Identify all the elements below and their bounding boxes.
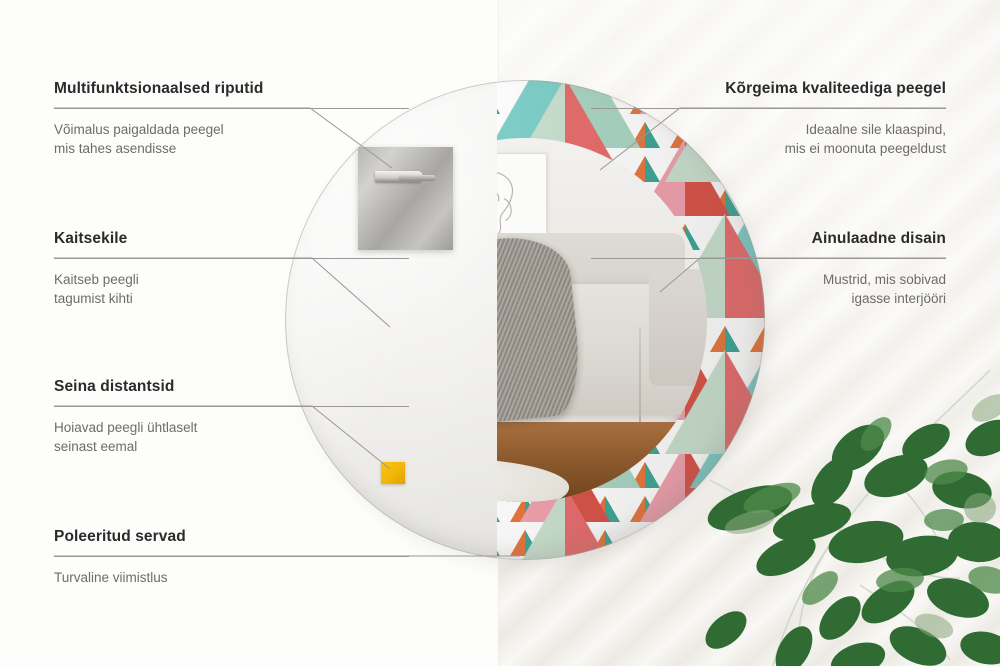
callout-multifunctional-hangers: Multifunktsionaalsed riputid Võimalus pa… [54, 80, 409, 158]
callout-title: Kaitsekile [54, 230, 409, 249]
callout-rule [591, 258, 946, 259]
callout-polished-edges: Poleeritud servad Turvaline viimistlus [54, 528, 409, 587]
callout-highest-quality-mirror: Kõrgeima kvaliteediga peegel Ideaalne si… [591, 80, 946, 158]
callout-rule [591, 108, 946, 109]
hanger-slot-shadow [398, 175, 436, 181]
infographic-canvas: Multifunktsionaalsed riputid Võimalus pa… [0, 0, 1000, 666]
callout-title: Seina distantsid [54, 378, 409, 397]
callout-description: Turvaline viimistlus [54, 568, 409, 587]
callout-title: Multifunktsionaalsed riputid [54, 80, 409, 99]
plant-decoration [690, 330, 1000, 666]
callout-rule [54, 258, 409, 259]
callout-rule [54, 406, 409, 407]
callout-description: Hoiavad peegli ühtlaselt seinast eemal [54, 418, 409, 456]
callout-rule [54, 108, 409, 109]
callout-description: Mustrid, mis sobivad igasse interjööri [591, 270, 946, 308]
callout-description: Võimalus paigaldada peegel mis tahes ase… [54, 120, 409, 158]
callout-wall-spacers: Seina distantsid Hoiavad peegli ühtlasel… [54, 378, 409, 456]
callout-rule [54, 556, 409, 557]
callout-description: Kaitseb peegli tagumist kihti [54, 270, 409, 308]
callout-description: Ideaalne sile klaaspind, mis ei moonuta … [591, 120, 946, 158]
callout-protective-film: Kaitsekile Kaitseb peegli tagumist kihti [54, 230, 409, 308]
callout-title: Poleeritud servad [54, 528, 409, 547]
wall-spacer [381, 462, 405, 484]
callout-title: Ainulaadne disain [591, 230, 946, 249]
callout-unique-design: Ainulaadne disain Mustrid, mis sobivad i… [591, 230, 946, 308]
callout-title: Kõrgeima kvaliteediga peegel [591, 80, 946, 99]
